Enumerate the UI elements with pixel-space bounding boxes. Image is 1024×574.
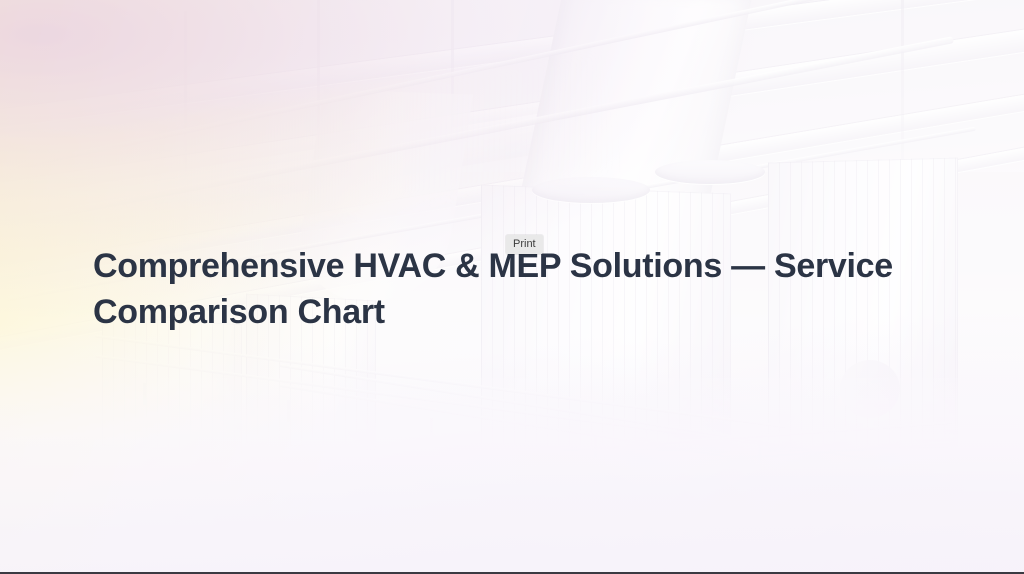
slide-canvas: Comprehensive HVAC & MEP Solutions — Ser… [0, 0, 1024, 574]
print-button[interactable]: Print [506, 235, 543, 254]
overlay-bottom-fade [0, 332, 1024, 572]
slide-title: Comprehensive HVAC & MEP Solutions — Ser… [93, 243, 933, 335]
